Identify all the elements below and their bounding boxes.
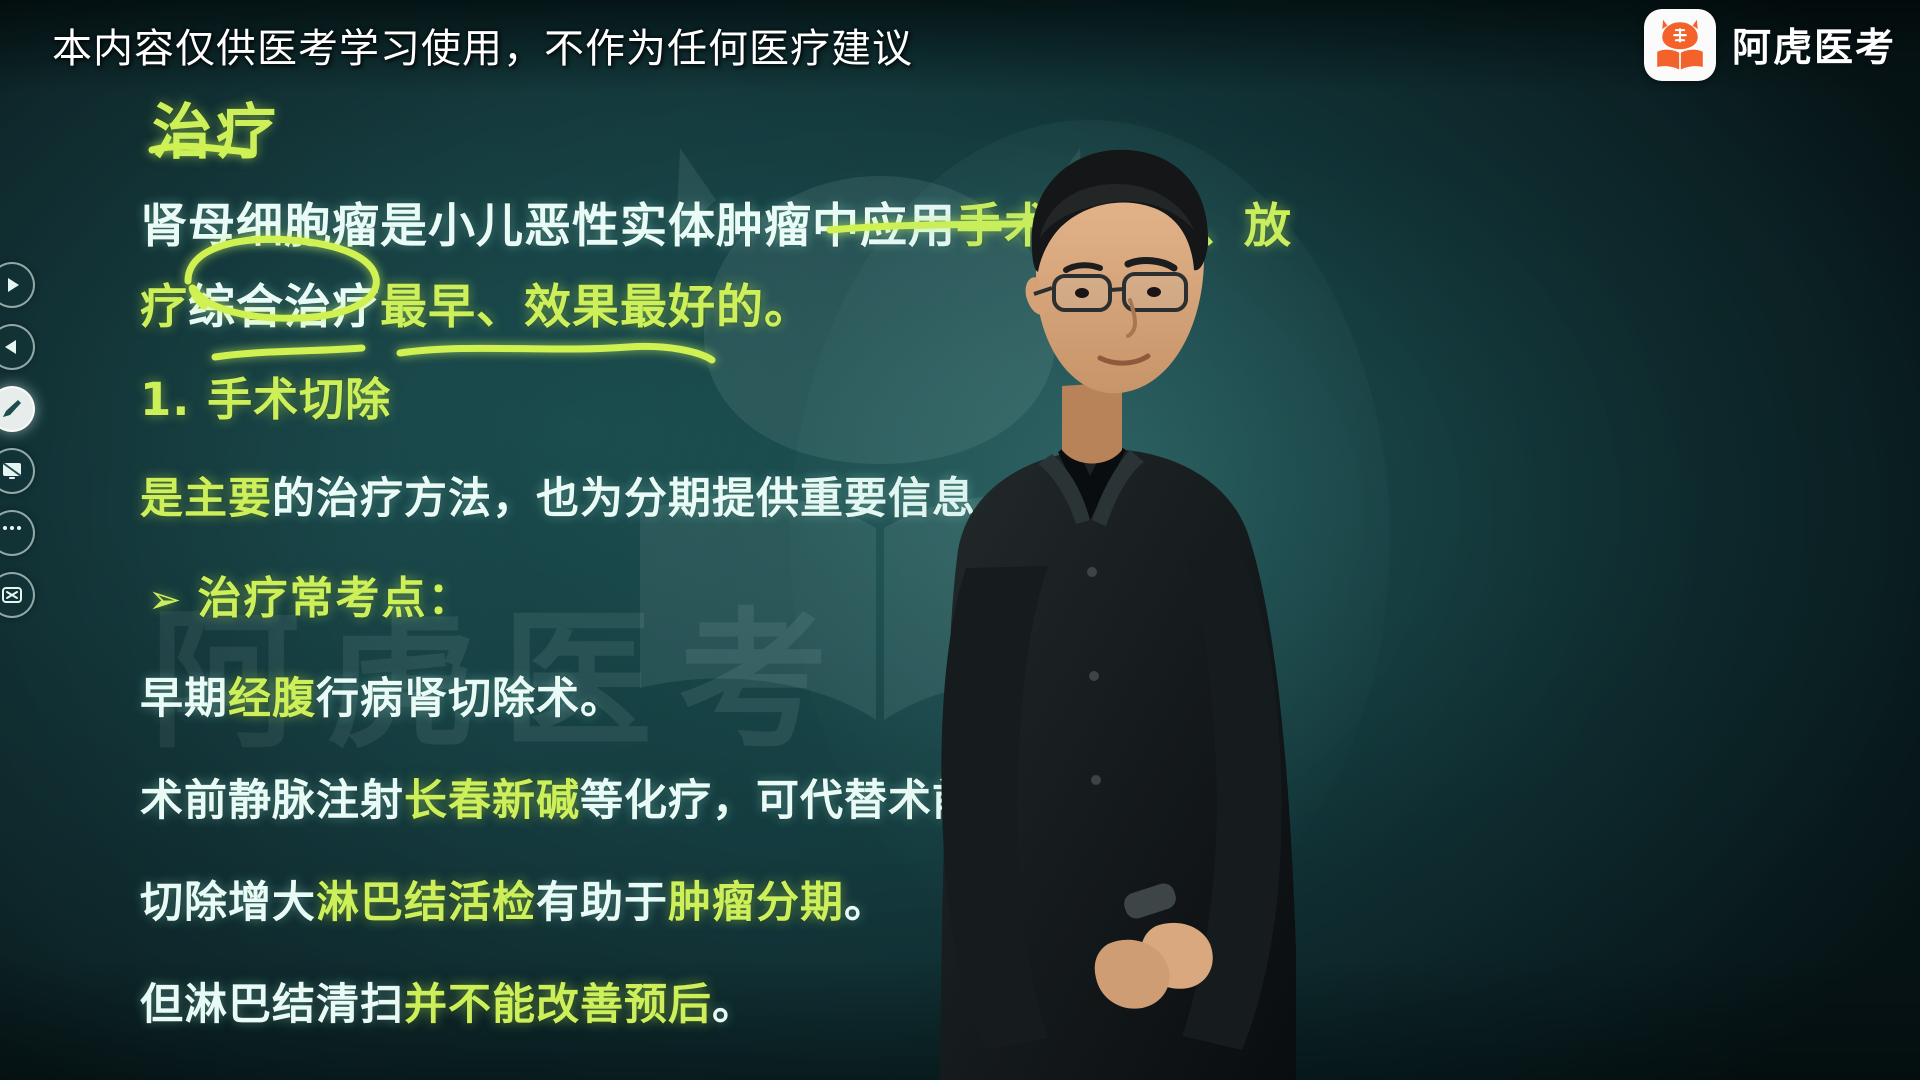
line-segment-highlight: 长春新碱 [404,776,580,826]
disclaimer-text: 本内容仅供医考学习使用，不作为任何医疗建议 [52,16,913,74]
line-segment: 综合治疗 [188,280,380,335]
video-player-stage: 阿虎医考 [0,0,1920,1080]
subtitle-icon[interactable] [0,572,35,618]
brand-logo: 阿虎医考 [1644,9,1896,81]
line-segment: 但淋巴结清扫 [140,980,404,1030]
line-segment-highlight: 经腹 [228,674,316,724]
screen-icon[interactable] [0,448,35,494]
brand-name-text: 阿虎医考 [1732,17,1896,73]
line-segment-highlight: 治疗常考点： [198,573,474,624]
more-dots-icon[interactable] [0,510,35,556]
line-segment-highlight: 是主要 [140,474,272,524]
tiger-book-icon [1644,9,1716,81]
arrow-bullet-icon: ➢ [148,577,184,623]
play-icon[interactable] [0,262,35,308]
line-segment: 切除增大 [140,878,316,928]
pen-icon[interactable] [0,386,35,432]
line-segment: 行病肾切除术。 [316,674,624,724]
back-arrow-icon[interactable] [0,324,35,370]
line-segment-highlight: 最早、效果最好的。 [380,280,812,335]
line-segment: 有助于 [536,878,668,928]
line-segment-highlight: 疗 [140,280,188,335]
line-segment: 术前静脉注射 [140,776,404,826]
line-segment-highlight: 并不能改善预后 [404,980,712,1030]
line-segment: 早期 [140,674,228,724]
line-segment-highlight: 淋巴结活检 [316,878,536,928]
presenter-figure [790,120,1430,1080]
top-banner: 本内容仅供医考学习使用，不作为任何医疗建议 [0,0,1920,90]
player-toolbar[interactable] [0,262,52,618]
line-segment: 。 [712,980,756,1030]
